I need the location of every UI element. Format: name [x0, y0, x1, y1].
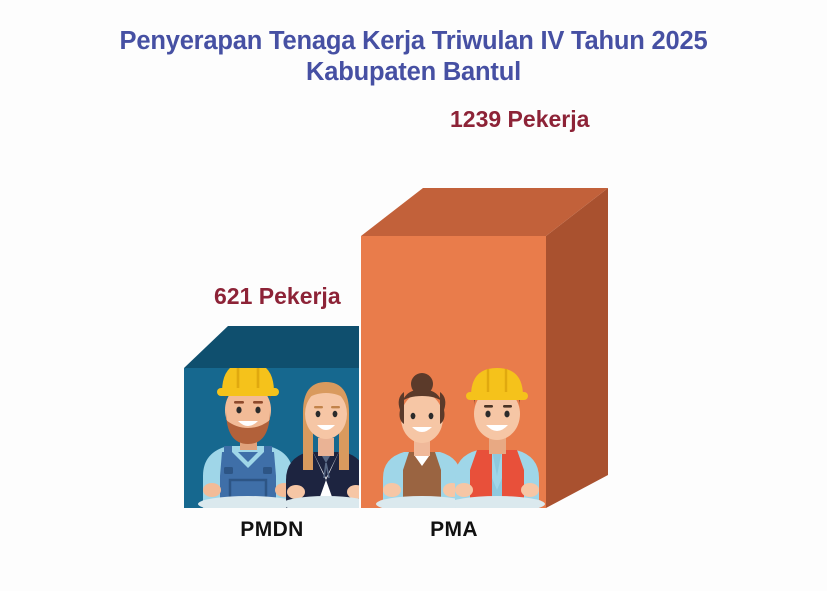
category-label-pma: PMA	[362, 518, 546, 542]
bar-chart-svg	[0, 0, 827, 591]
bar-pma-side-face	[546, 188, 608, 508]
bar-pmdn[interactable]	[184, 326, 370, 512]
bar-pmdn-top-face	[184, 326, 359, 368]
infographic-canvas: Penyerapan Tenaga Kerja Triwulan IV Tahu…	[0, 0, 827, 591]
chart-plot-area	[0, 0, 827, 591]
category-label-pmdn: PMDN	[186, 518, 358, 542]
bar-pma[interactable]	[361, 188, 608, 512]
